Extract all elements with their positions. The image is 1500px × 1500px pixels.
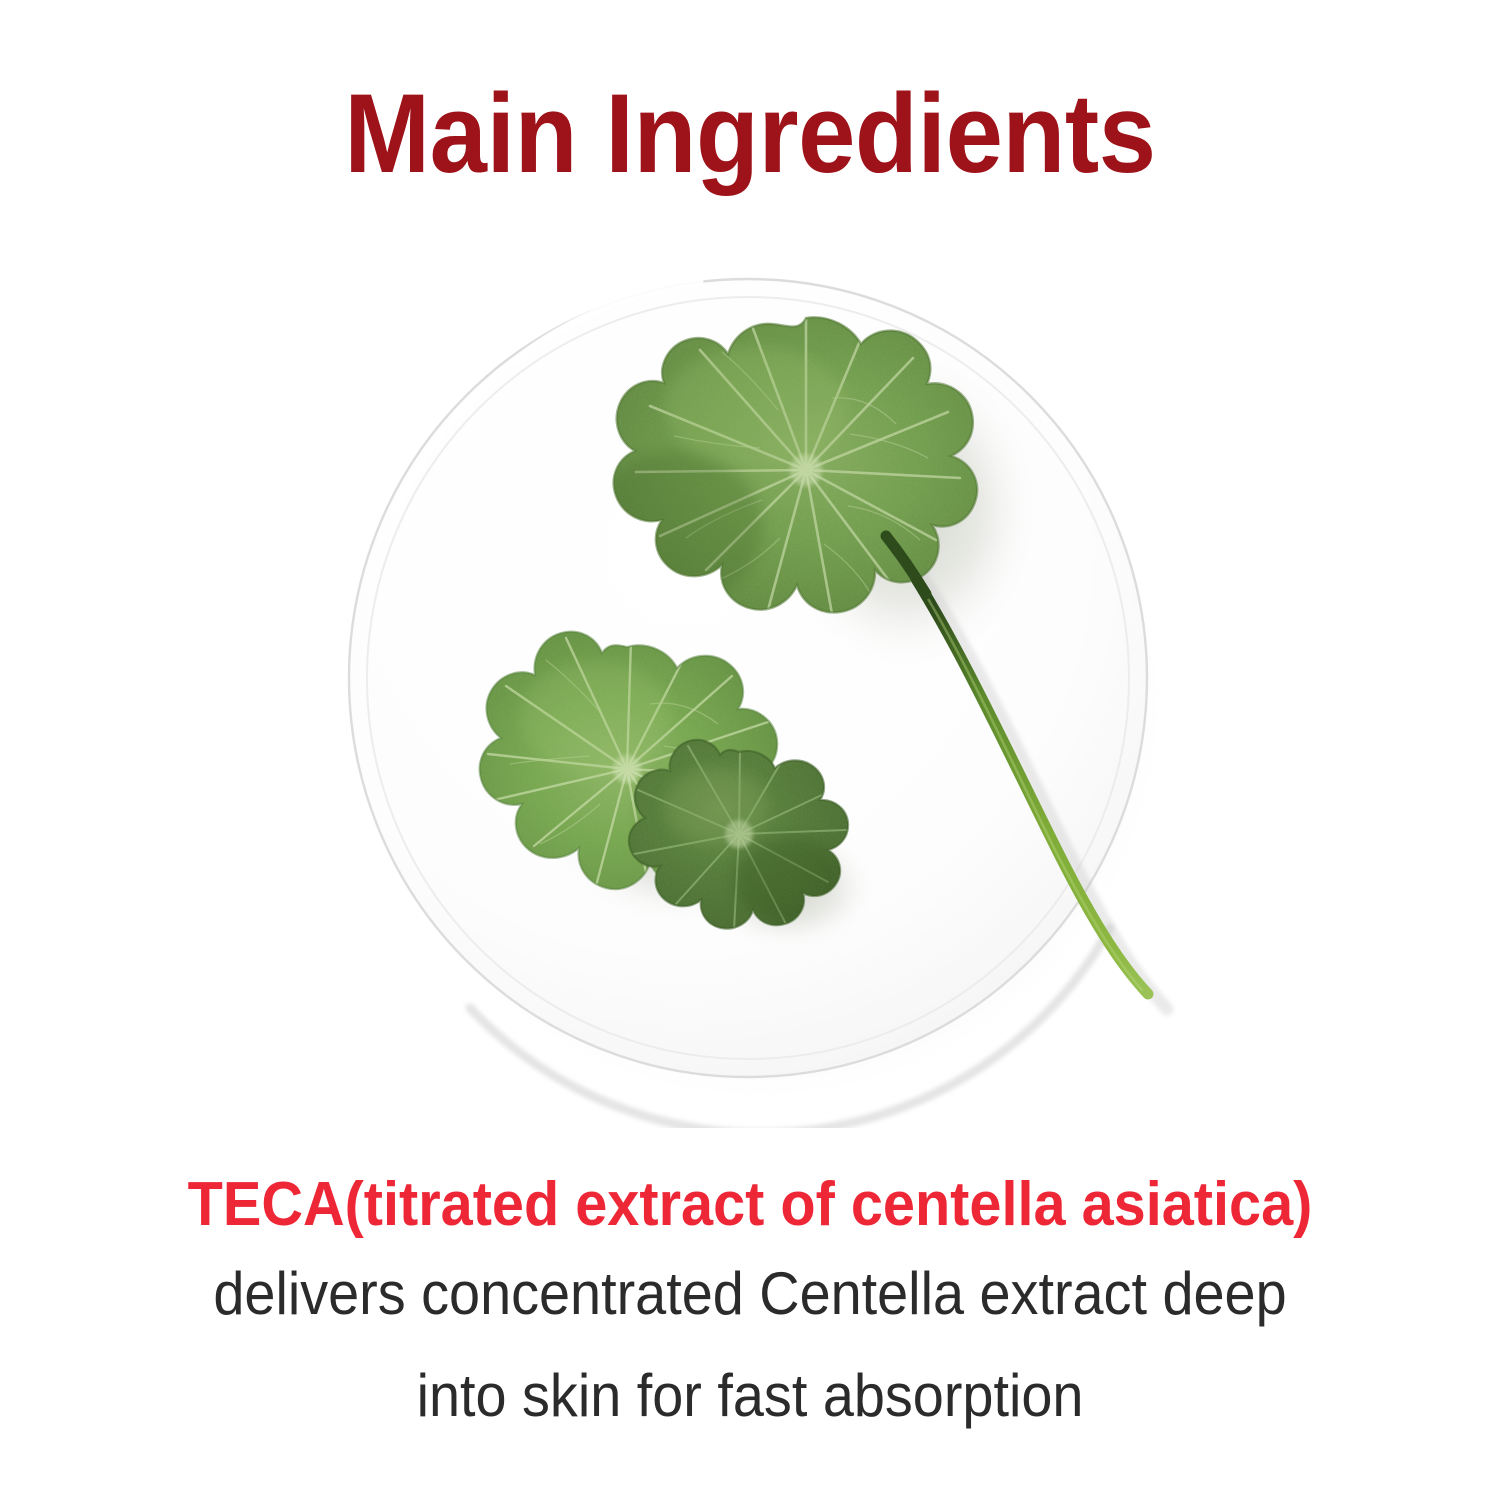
teca-headline: TECA(titrated extract of centella asiati… (53, 1168, 1448, 1242)
header-band: Main Ingredients (0, 78, 1500, 190)
caption-block: TECA(titrated extract of centella asiati… (0, 1168, 1500, 1438)
page-title: Main Ingredients (344, 78, 1155, 190)
poster-root: Main Ingredients (0, 0, 1500, 1500)
caption-line-2: into skin for fast absorption (53, 1354, 1448, 1438)
centella-plate-illustration (0, 248, 1500, 1128)
caption-line-1: delivers concentrated Centella extract d… (53, 1252, 1448, 1336)
hero-image (0, 248, 1500, 1128)
